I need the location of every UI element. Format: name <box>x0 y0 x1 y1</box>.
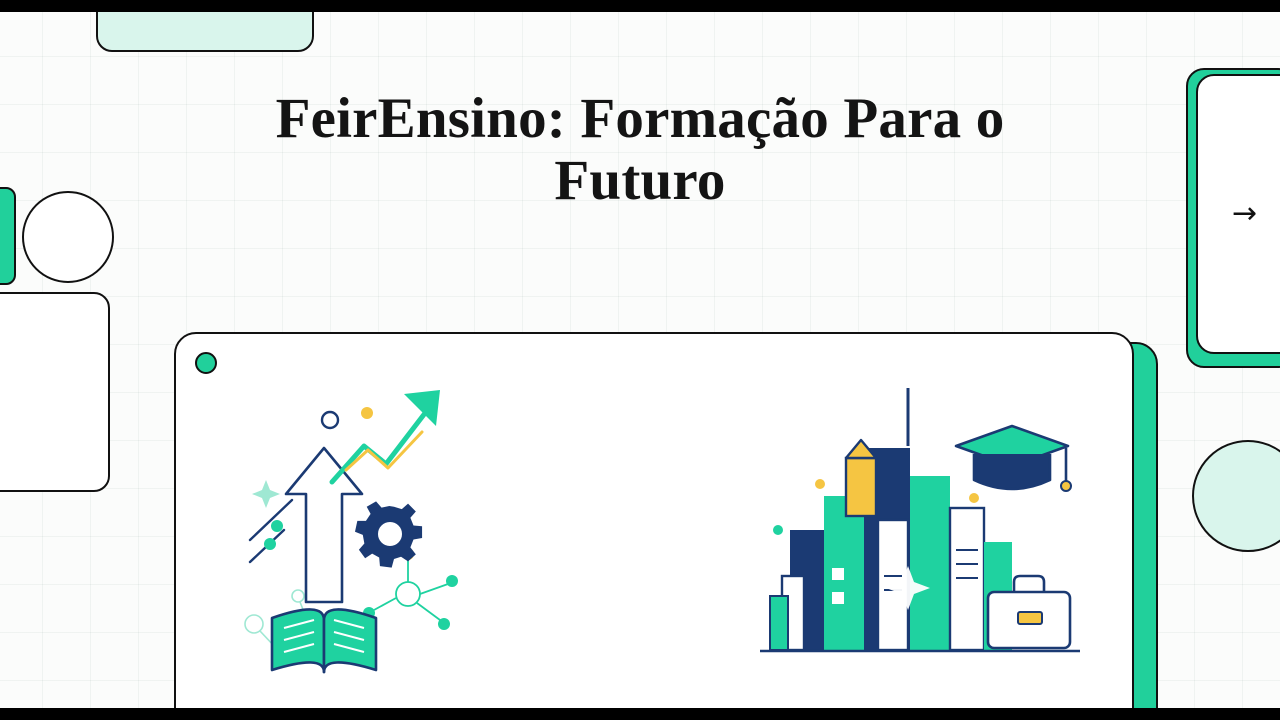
slide-title: FeirEnsino: Formação Para o Futuro <box>190 88 1090 211</box>
deco-left-circle <box>22 191 114 283</box>
city-career-illustration <box>760 380 1080 680</box>
deco-left-panel <box>0 292 110 492</box>
deco-top-left-tab <box>96 12 314 52</box>
deco-right-card: → <box>1196 74 1280 354</box>
slide-canvas: → FeirEnsino: Formação Para o Futuro <box>0 12 1280 708</box>
growth-education-illustration <box>236 372 486 682</box>
card-bullet-dot <box>195 352 217 374</box>
deco-left-green-block <box>0 187 16 285</box>
arrow-right-icon: → <box>1232 199 1257 229</box>
